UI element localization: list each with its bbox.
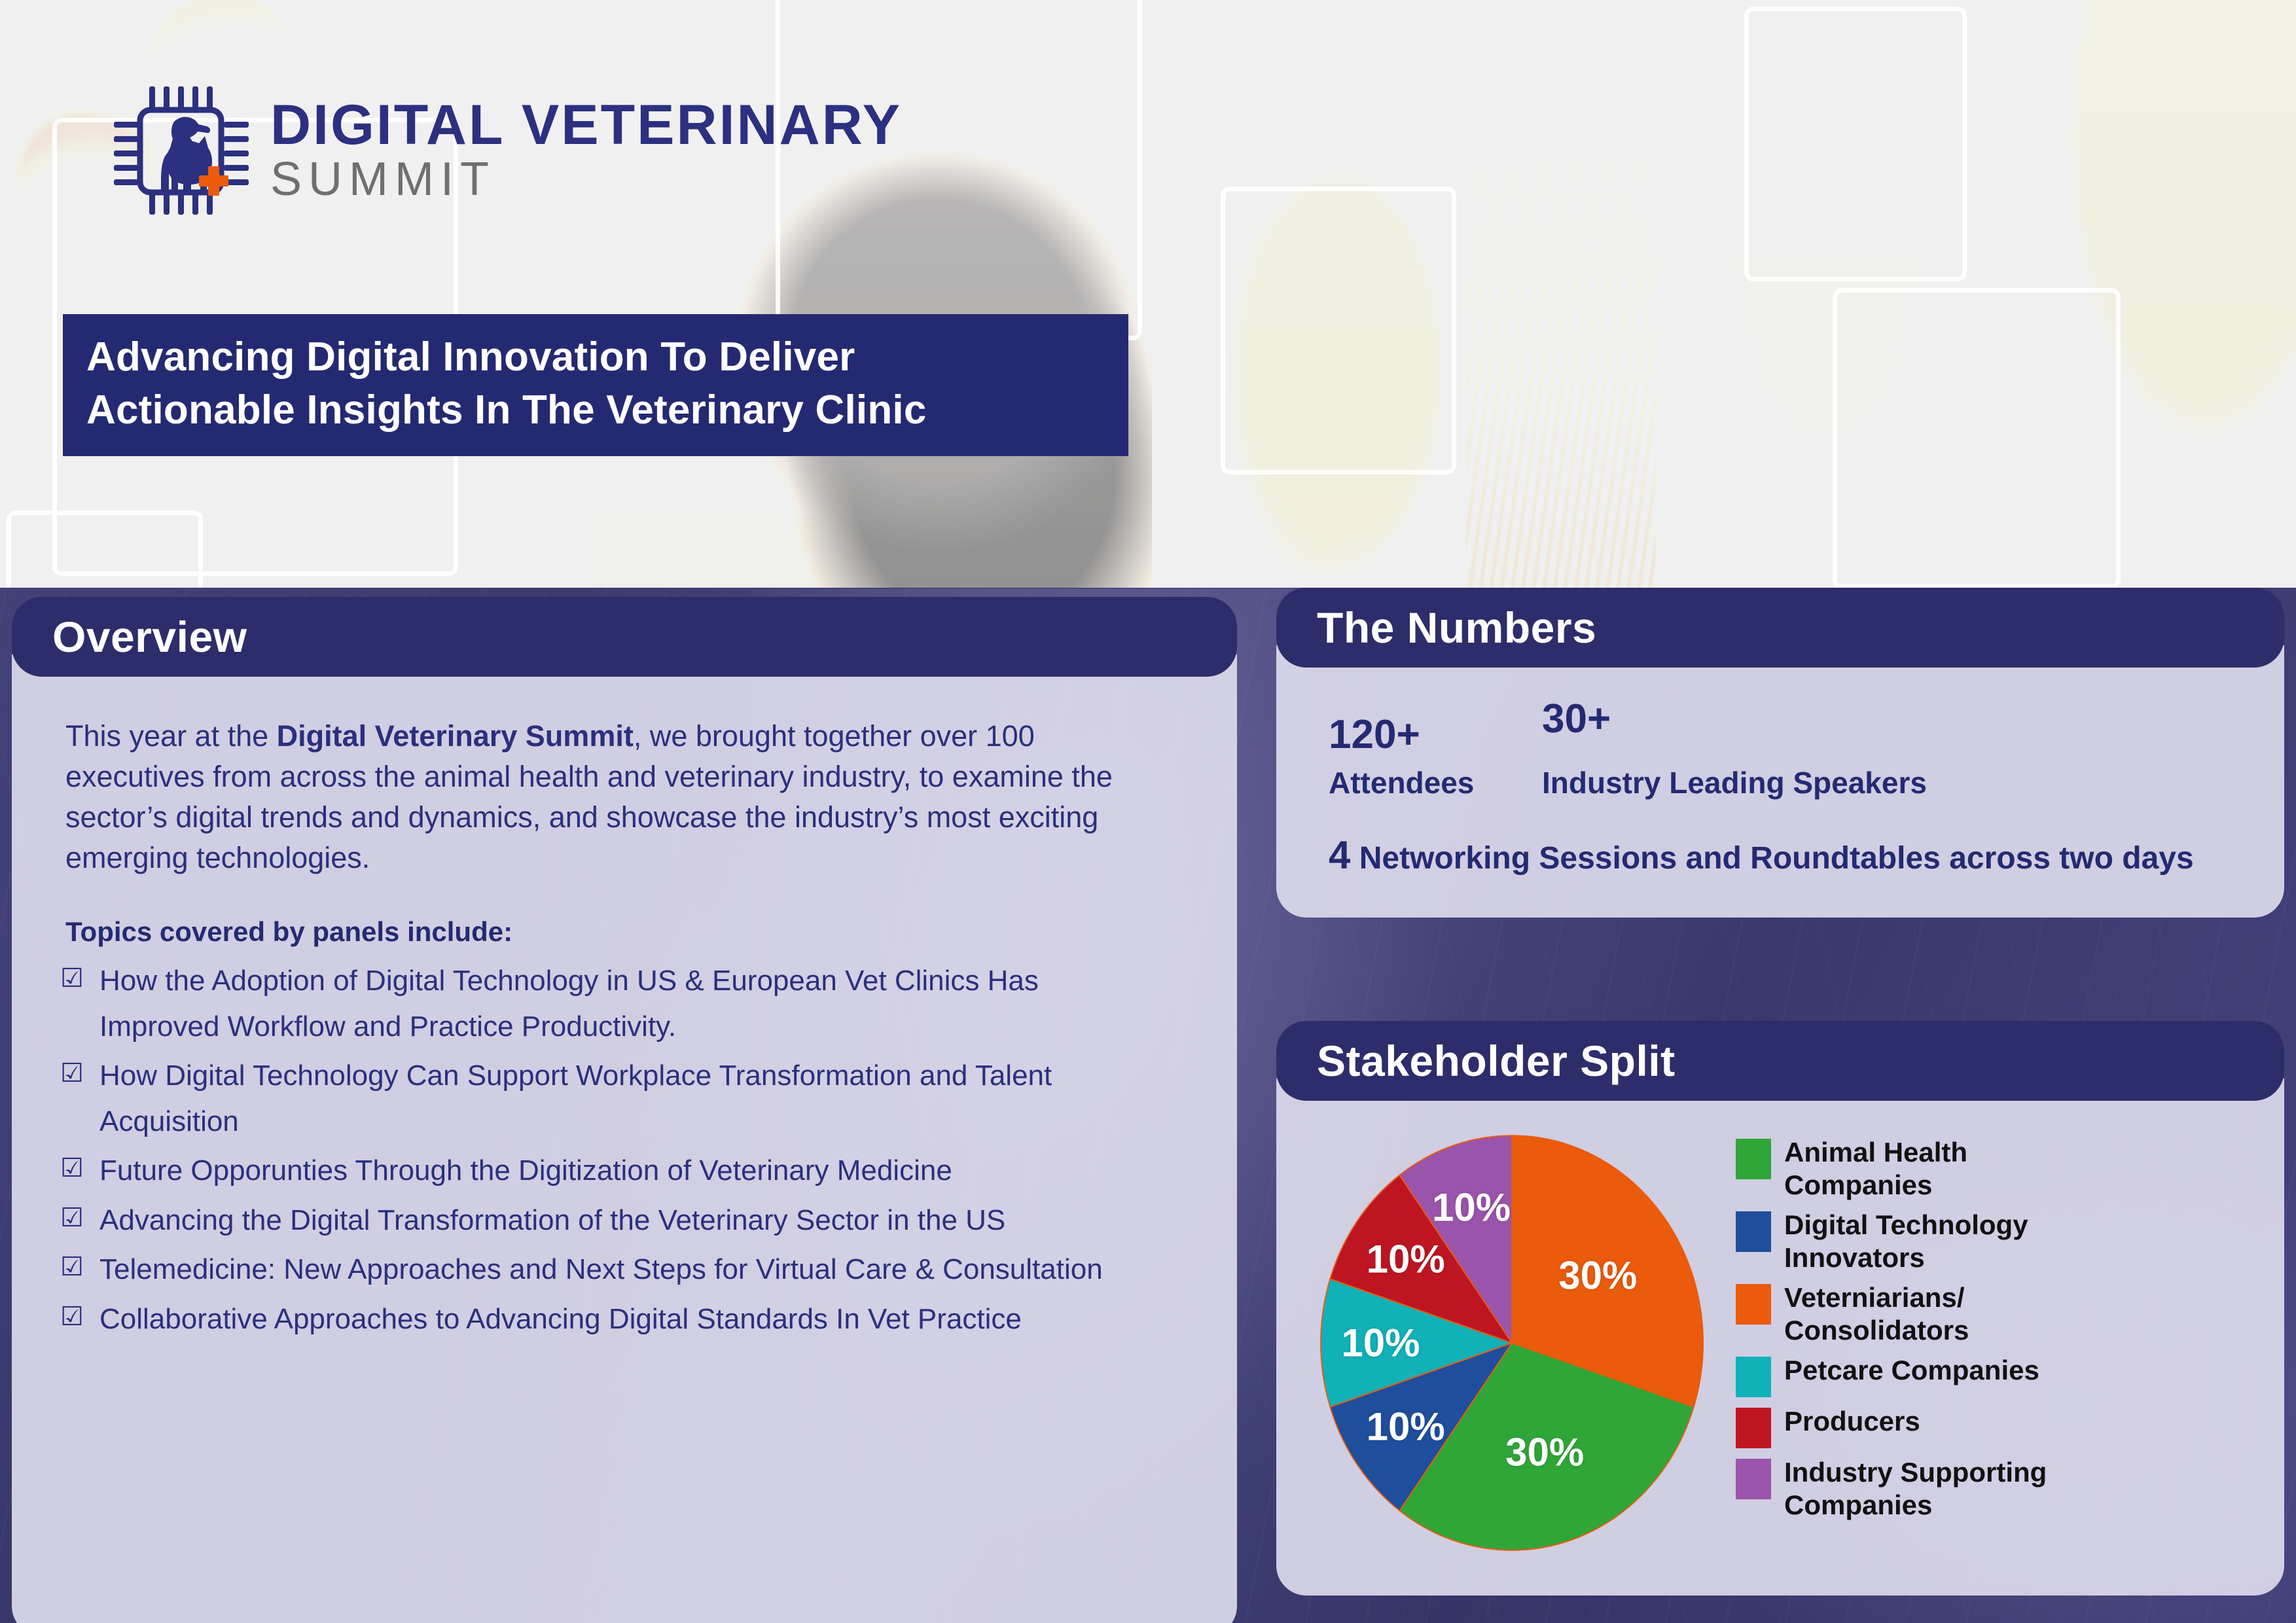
overview-panel-header: Overview: [12, 597, 1237, 677]
checkbox-checked-icon: ☑: [60, 958, 99, 999]
pie-chart-legend: Animal HealthCompaniesDigital Technology…: [1721, 1130, 2258, 1529]
legend-label: Digital TechnologyInnovators: [1784, 1209, 2028, 1274]
topic-label: Advancing the Digital Transformation of …: [99, 1198, 1005, 1243]
photo-horse-mane: [1466, 0, 1656, 588]
stakeholder-panel-header: Stakeholder Split: [1276, 1021, 2284, 1101]
photo-farmer-with-lamb: [1656, 0, 1996, 588]
legend-label: Veterniarians/Consolidators: [1784, 1281, 1969, 1346]
overview-panel: Overview This year at the Digital Veteri…: [12, 597, 1237, 1623]
overview-title: Overview: [52, 612, 247, 662]
stat-attendees: 120+ Attendees: [1329, 713, 1525, 800]
photo-vet-with-tablet: [1996, 0, 2296, 588]
intro-bold-brand: Digital Veterinary Summit: [277, 719, 634, 753]
logo-subtitle: SUMMIT: [270, 155, 902, 205]
pie-slice-label: 30%: [1505, 1430, 1584, 1475]
photo-patient-with-dog: [1152, 0, 1466, 588]
legend-color-swatch: [1736, 1284, 1771, 1325]
topic-label: How Digital Technology Can Support Workp…: [99, 1053, 1121, 1144]
checkbox-checked-icon: ☑: [60, 1198, 99, 1239]
topic-label: Future Opporunties Through the Digitizat…: [99, 1148, 952, 1194]
topic-item: ☑Telemedicine: New Approaches and Next S…: [60, 1247, 1199, 1293]
legend-color-swatch: [1736, 1459, 1771, 1499]
header-banner: DIGITAL VETERINARY SUMMIT Advancing Digi…: [0, 0, 2296, 588]
legend-color-swatch: [1736, 1357, 1771, 1397]
speakers-label: Industry Leading Speakers: [1542, 765, 1927, 800]
numbers-panel-body: 120+ Attendees 30+ Industry Leading Spea…: [1276, 645, 2284, 918]
legend-color-swatch: [1736, 1211, 1771, 1252]
topics-heading: Topics covered by panels include:: [65, 916, 1199, 948]
legend-label: Animal HealthCompanies: [1784, 1136, 1967, 1201]
pie-slice-label: 10%: [1367, 1237, 1445, 1282]
numbers-panel: The Numbers 120+ Attendees 30+ Industry …: [1276, 588, 2284, 918]
topic-item: ☑Advancing the Digital Transformation of…: [60, 1198, 1199, 1243]
brand-logo: DIGITAL VETERINARY SUMMIT: [113, 85, 902, 216]
tagline-banner: Advancing Digital Innovation To Deliver …: [63, 314, 1128, 456]
legend-item[interactable]: Producers: [1736, 1405, 2258, 1448]
topics-list: ☑How the Adoption of Digital Technology …: [50, 958, 1199, 1342]
vet-chip-logo-icon: [113, 85, 253, 216]
pie-slice-label: 10%: [1367, 1404, 1445, 1449]
sessions-value: 4: [1329, 833, 1350, 877]
numbers-stats-row: 120+ Attendees 30+ Industry Leading Spea…: [1329, 698, 2246, 800]
topic-label: How the Adoption of Digital Technology i…: [99, 958, 1121, 1049]
legend-item[interactable]: Animal HealthCompanies: [1736, 1136, 2258, 1201]
stat-speakers: 30+ Industry Leading Speakers: [1542, 698, 1927, 800]
tagline-line-1: Advancing Digital Innovation To Deliver: [86, 331, 1105, 384]
topic-item: ☑How the Adoption of Digital Technology …: [60, 958, 1199, 1049]
legend-item[interactable]: Petcare Companies: [1736, 1354, 2258, 1397]
checkbox-checked-icon: ☑: [60, 1247, 99, 1288]
legend-item[interactable]: Digital TechnologyInnovators: [1736, 1209, 2258, 1274]
topic-item: ☑Future Opporunties Through the Digitiza…: [60, 1148, 1199, 1194]
checkbox-checked-icon: ☑: [60, 1148, 99, 1189]
checkbox-checked-icon: ☑: [60, 1053, 99, 1094]
pie-slice-label: 30%: [1558, 1253, 1637, 1298]
legend-label: Industry SupportingCompanies: [1784, 1456, 2047, 1521]
pie-chart-container: 30%30%10%10%10%10%: [1302, 1130, 1721, 1552]
legend-label: Producers: [1784, 1405, 1920, 1438]
numbers-title: The Numbers: [1317, 603, 1596, 652]
topic-item: ☑How Digital Technology Can Support Work…: [60, 1053, 1199, 1144]
legend-color-swatch: [1736, 1408, 1771, 1448]
checkbox-checked-icon: ☑: [60, 1296, 99, 1338]
pie-slice-label: 10%: [1432, 1185, 1511, 1230]
stakeholder-split-panel: Stakeholder Split 30%30%10%10%10%10% Ani…: [1276, 1021, 2284, 1596]
numbers-panel-header: The Numbers: [1276, 588, 2284, 668]
topic-label: Collaborative Approaches to Advancing Di…: [99, 1296, 1022, 1342]
pie-chart: 30%30%10%10%10%10%: [1319, 1133, 1705, 1552]
intro-before: This year at the: [65, 719, 277, 753]
sessions-label: Networking Sessions and Roundtables acro…: [1350, 841, 2193, 876]
attendees-value: 120+: [1329, 713, 1525, 756]
stakeholder-title: Stakeholder Split: [1317, 1036, 1676, 1086]
overview-panel-body: This year at the Digital Veterinary Summ…: [12, 654, 1237, 1623]
legend-label: Petcare Companies: [1784, 1354, 2039, 1387]
logo-title: DIGITAL VETERINARY: [270, 99, 902, 151]
topic-item: ☑Collaborative Approaches to Advancing D…: [60, 1296, 1199, 1342]
speakers-value: 30+: [1542, 698, 1927, 740]
overview-paragraph: This year at the Digital Veterinary Summ…: [65, 716, 1178, 878]
stat-sessions: 4 Networking Sessions and Roundtables ac…: [1329, 829, 2232, 881]
legend-item[interactable]: Veterniarians/Consolidators: [1736, 1281, 2258, 1346]
stakeholder-panel-body: 30%30%10%10%10%10% Animal HealthCompanie…: [1276, 1079, 2284, 1596]
topic-label: Telemedicine: New Approaches and Next St…: [99, 1247, 1103, 1293]
legend-color-swatch: [1736, 1139, 1771, 1179]
legend-item[interactable]: Industry SupportingCompanies: [1736, 1456, 2258, 1521]
tagline-line-2: Actionable Insights In The Veterinary Cl…: [86, 384, 1105, 437]
attendees-label: Attendees: [1329, 765, 1525, 800]
pie-slice-label: 10%: [1341, 1321, 1420, 1366]
